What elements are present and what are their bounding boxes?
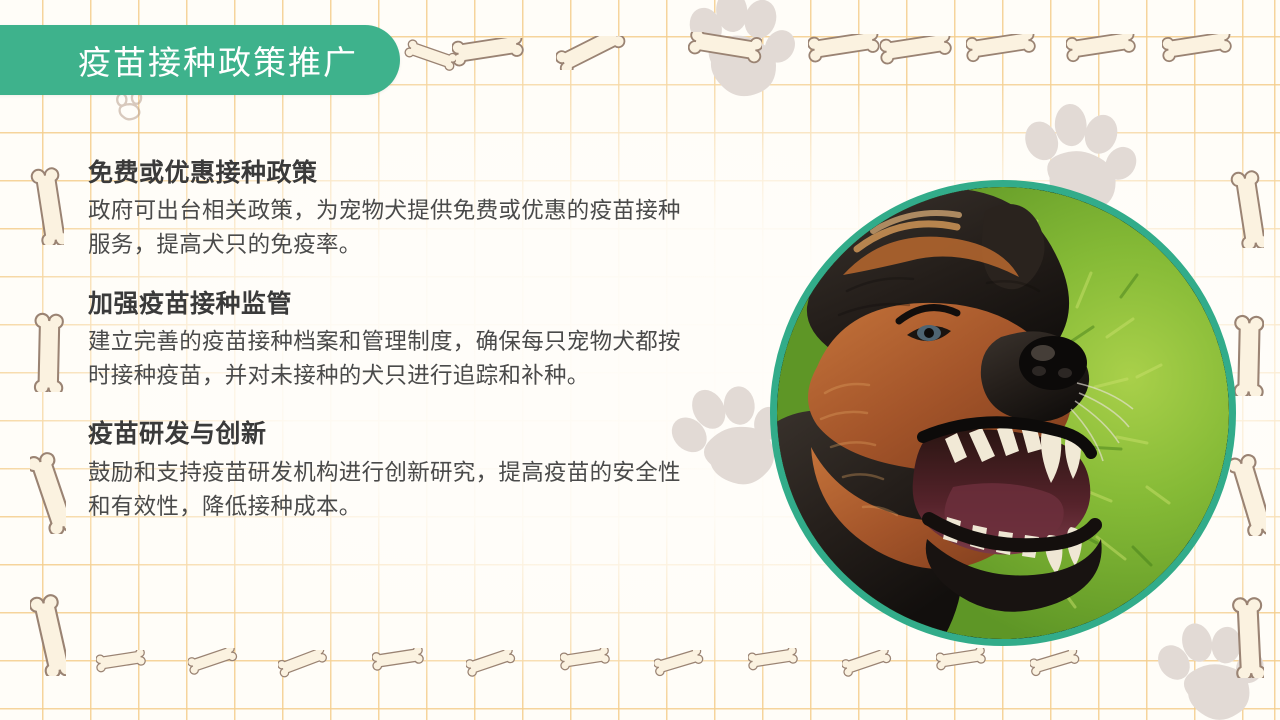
content-block: 加强疫苗接种监管 建立完善的疫苗接种档案和管理制度，确保每只宠物犬都按时接种疫苗… (88, 289, 688, 394)
page-title: 疫苗接种政策推广 (78, 36, 358, 84)
slide-title-banner: 疫苗接种政策推广 (0, 25, 400, 95)
section-body: 鼓励和支持疫苗研发机构进行创新研究，提高疫苗的安全性和有效性，降低接种成本。 (88, 456, 688, 524)
section-body: 建立完善的疫苗接种档案和管理制度，确保每只宠物犬都按时接种疫苗，并对未接种的犬只… (88, 325, 688, 393)
section-heading: 免费或优惠接种政策 (88, 158, 688, 189)
section-heading: 加强疫苗接种监管 (88, 289, 688, 320)
dog-photo-image (777, 187, 1229, 639)
dog-photo-circle (770, 180, 1236, 646)
slide-root: 疫苗接种政策推广 免费或优惠接种政策 政府可出台相关政策，为宠物犬提供免费或优惠… (0, 0, 1280, 720)
content-block: 疫苗研发与创新 鼓励和支持疫苗研发机构进行创新研究，提高疫苗的安全性和有效性，降… (88, 419, 688, 524)
section-heading: 疫苗研发与创新 (88, 419, 688, 450)
content-column: 免费或优惠接种政策 政府可出台相关政策，为宠物犬提供免费或优惠的疫苗接种服务，提… (88, 158, 688, 524)
content-block: 免费或优惠接种政策 政府可出台相关政策，为宠物犬提供免费或优惠的疫苗接种服务，提… (88, 158, 688, 263)
section-body: 政府可出台相关政策，为宠物犬提供免费或优惠的疫苗接种服务，提高犬只的免疫率。 (88, 194, 688, 262)
